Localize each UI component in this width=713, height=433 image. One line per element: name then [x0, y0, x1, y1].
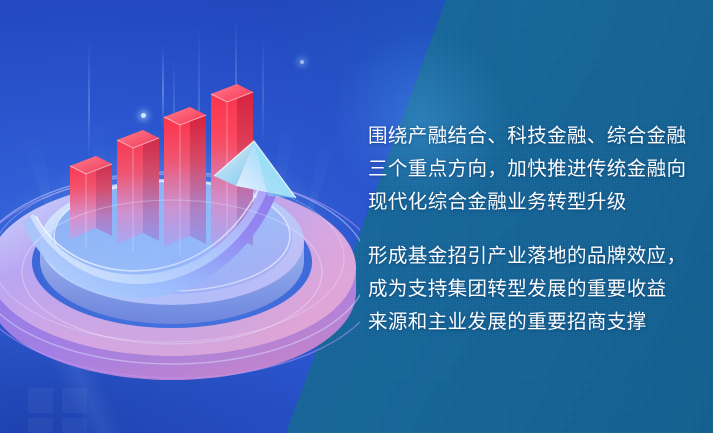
growth-chart-illustration [0, 0, 360, 433]
copy-block: 围绕产融结合、科技金融、综合金融 三个重点方向，加快推进传统金融向 现代化综合金… [368, 100, 688, 358]
paragraph-1: 围绕产融结合、科技金融、综合金融 三个重点方向，加快推进传统金融向 现代化综合金… [368, 120, 688, 219]
paragraph-2: 形成基金招引产业落地的品牌效应， 成为支持集团转型发展的重要收益 来源和主业发展… [368, 240, 688, 339]
platform-glow [20, 120, 340, 360]
slide-canvas: 围绕产融结合、科技金融、综合金融 三个重点方向，加快推进传统金融向 现代化综合金… [0, 0, 713, 433]
